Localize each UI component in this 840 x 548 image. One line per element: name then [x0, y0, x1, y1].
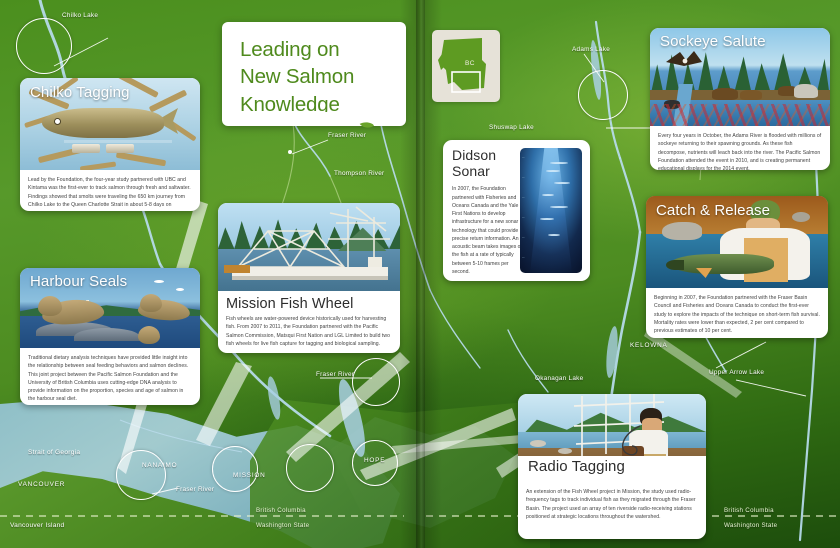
sonar-scale-tick: —: [522, 176, 525, 179]
border-label-bc-left: British Columbia: [256, 507, 306, 514]
leader-adams: [570, 52, 640, 102]
title-card-wave-edge: [222, 112, 406, 134]
panel-title-seals: Harbour Seals: [30, 273, 127, 290]
shore-rock-1: [530, 440, 546, 447]
sonar-fish-trace-6: [540, 218, 554, 220]
seal-left-head: [38, 296, 62, 316]
sonar-beam-cone: [530, 148, 572, 273]
panel-text-didson: In 2007, the Foundation partnered with F…: [452, 185, 526, 276]
title-line-2: New Salmon: [240, 63, 406, 90]
border-label-wa-right: Washington State: [724, 522, 777, 529]
seal-pup-head: [138, 326, 160, 344]
didson-text-column: Didson Sonar In 2007, the Foundation par…: [443, 140, 526, 276]
catch-release-illustration: Catch & Release: [646, 196, 828, 288]
sonar-fish-trace-3: [554, 182, 570, 184]
panel-body-chilko: Lead by the Foundation, the four-year st…: [20, 170, 200, 211]
shore-rock-2: [558, 448, 572, 454]
sonar-scale-tick: —: [522, 236, 525, 239]
map-label-chilko-lake: Chilko Lake: [62, 12, 98, 19]
seals-illustration: Harbour Seals: [20, 268, 200, 348]
map-label-mission: MISSION: [233, 472, 266, 479]
panel-mission-fish-wheel[interactable]: Mission Fish Wheel Fish wheels are water…: [218, 203, 400, 353]
panel-text-sockeye: Every four years in October, the Adams R…: [658, 132, 822, 170]
panel-title-didson: Didson Sonar: [452, 148, 526, 179]
map-label-vancouver-island: Vancouver Island: [10, 522, 64, 529]
panel-body-seals: Traditional dietary analysis techniques …: [20, 348, 200, 405]
panel-text-catch: Beginning in 2007, the Foundation partne…: [654, 294, 820, 335]
infographic-poster: Chilko Lake Adams Lake Shuswap Lake Fras…: [0, 0, 840, 548]
fish-eye: [54, 118, 61, 125]
panel-title-didson-line2: Sonar: [452, 164, 526, 180]
marker-mission[interactable]: [212, 446, 258, 492]
panel-didson-sonar[interactable]: Didson Sonar In 2007, the Foundation par…: [443, 140, 590, 281]
marker-mid-fraser[interactable]: [286, 444, 334, 492]
rock-mid: [74, 328, 140, 341]
border-label-wa-left: Washington State: [256, 522, 309, 529]
chilko-illustration: Chilko Tagging: [20, 78, 200, 170]
grizzly-bear-2: [740, 90, 762, 100]
panel-radio-tagging[interactable]: Radio Tagging Radio Tagging An extension…: [518, 394, 706, 539]
map-label-fraser-river-mid: Fraser River: [316, 371, 354, 378]
salmon-head: [666, 260, 684, 270]
captured-salmon: [670, 254, 774, 274]
sonar-fish-trace-2: [546, 170, 560, 172]
page-spine: [416, 0, 425, 548]
panel-text-seals: Traditional dietary analysis techniques …: [28, 354, 192, 404]
panel-catch-and-release[interactable]: Catch & Release Beginning in 2007, the F…: [646, 196, 828, 338]
poster-title: Leading on New Salmon Knowledge: [222, 22, 406, 118]
panel-body-sockeye: Every four years in October, the Adams R…: [650, 126, 830, 170]
map-dot-fraser-north: [288, 150, 292, 154]
sockeye-school: [650, 104, 830, 126]
panel-title-catch: Catch & Release: [656, 202, 770, 219]
sonar-fish-trace-7: [548, 234, 560, 236]
panel-body-fish-wheel: Mission Fish Wheel Fish wheels are water…: [218, 291, 400, 353]
sonar-scale-tick: —: [522, 196, 525, 199]
border-label-bc-right: British Columbia: [724, 507, 774, 514]
panel-sockeye-salute[interactable]: Sockeye Salute Every four years in Octob…: [650, 28, 830, 170]
sonar-fish-trace-5: [550, 206, 568, 208]
panel-title-sockeye: Sockeye Salute: [660, 33, 766, 50]
eagle-in-flight-icon: [664, 50, 704, 72]
leader-chilko: [50, 22, 170, 82]
sonar-image: — — — — — —: [520, 148, 582, 273]
poster-title-card: Leading on New Salmon Knowledge: [222, 22, 406, 126]
leader-upper-arrow: [700, 340, 820, 400]
panel-body-radio: An extension of the Fish Wheel project i…: [518, 486, 706, 528]
map-label-strait-of-georgia: Strait of Georgia: [28, 449, 80, 456]
bird-icon-1: [154, 280, 164, 283]
bird-icon-2: [176, 288, 184, 291]
panel-chilko-tagging[interactable]: Chilko Tagging Lead by the Foundation, t…: [20, 78, 200, 211]
title-line-1: Leading on: [240, 36, 406, 63]
bc-inset-map: BC: [432, 30, 500, 102]
sonar-scale-tick: —: [522, 156, 525, 159]
tag-shelf: [64, 140, 172, 143]
map-label-vancouver: NANAIMO: [142, 462, 177, 469]
sonar-fish-trace-1: [550, 162, 568, 164]
panel-title-chilko: Chilko Tagging: [30, 84, 130, 101]
map-label-shuswap-lake: Shuswap Lake: [489, 124, 534, 131]
river-rock-2: [792, 212, 810, 222]
river-rock-1: [662, 222, 702, 240]
panel-text-chilko: Lead by the Foundation, the four-year st…: [28, 176, 192, 211]
sockeye-illustration: Sockeye Salute: [650, 28, 830, 126]
acoustic-tag-1: [72, 144, 100, 153]
map-label-fraser-river-south: Fraser River: [176, 486, 214, 493]
map-label-nanaimo: VANCOUVER: [18, 481, 65, 488]
sonar-scale-tick: —: [522, 216, 525, 219]
map-label-thompson-river: Thompson River: [334, 170, 384, 177]
panel-text-fish-wheel: Fish wheels are water-powered device his…: [226, 315, 392, 348]
panel-title-fish-wheel: Mission Fish Wheel: [226, 296, 392, 312]
fish-wheel-illustration: [218, 203, 400, 291]
fish-wheel-frame: [218, 203, 400, 291]
panel-body-catch: Beginning in 2007, the Foundation partne…: [646, 288, 828, 338]
sonar-fish-trace-4: [542, 194, 554, 196]
map-label-hope: HOPE: [364, 457, 385, 464]
radio-tagging-illustration: Radio Tagging Radio Tagging: [518, 394, 706, 486]
acoustic-tag-2: [106, 144, 134, 153]
boulder: [794, 84, 818, 98]
bc-inset-label: BC: [465, 60, 475, 67]
sonar-scale-tick: —: [522, 256, 525, 259]
panel-title-radio-text: Radio Tagging: [528, 458, 625, 475]
map-label-kelowna: KELOWNA: [630, 342, 668, 349]
panel-harbour-seals[interactable]: Harbour Seals Traditional dietary analys…: [20, 268, 200, 405]
panel-text-radio: An extension of the Fish Wheel project i…: [526, 488, 698, 521]
map-label-adams-lake: Adams Lake: [572, 46, 610, 53]
seal-right-head: [140, 294, 162, 312]
panel-title-didson-line1: Didson: [452, 148, 526, 164]
map-label-okanagan-lake: Okanagan Lake: [535, 375, 583, 382]
grizzly-bear-1: [712, 88, 738, 100]
